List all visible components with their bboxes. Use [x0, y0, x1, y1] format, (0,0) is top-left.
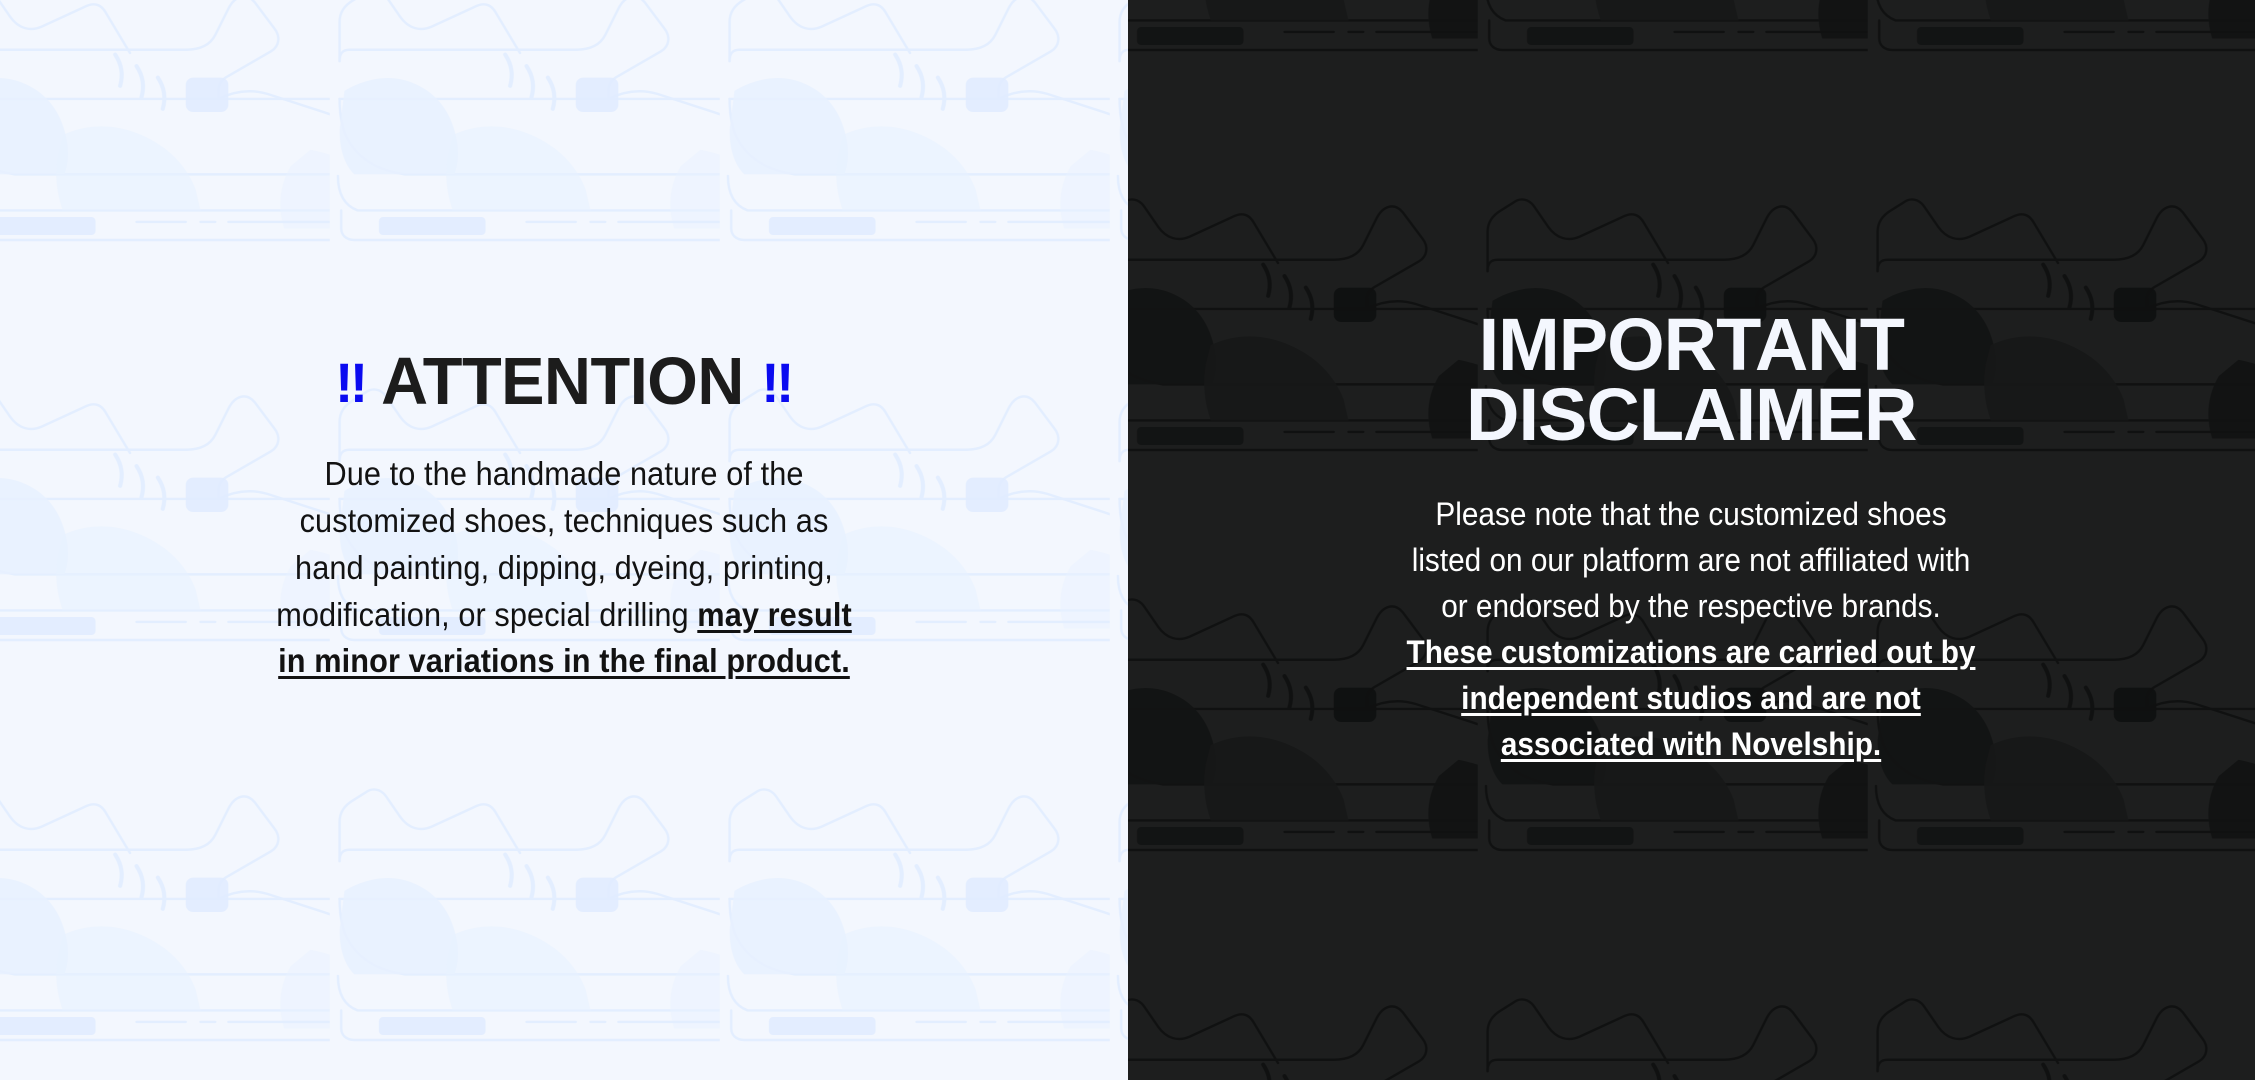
disclaimer-banner: ‼ ATTENTION ‼ Due to the handmade nature… [0, 0, 2255, 1080]
attention-heading-text: ATTENTION [381, 344, 744, 419]
disclaimer-heading-line1: IMPORTANT [1466, 310, 1916, 380]
disclaimer-panel: IMPORTANT DISCLAIMER Please note that th… [1128, 0, 2255, 1080]
attention-panel: ‼ ATTENTION ‼ Due to the handmade nature… [0, 0, 1128, 1080]
attention-heading: ‼ ATTENTION ‼ [335, 348, 792, 415]
double-exclamation-right-icon: ‼ [761, 351, 792, 414]
disclaimer-heading: IMPORTANT DISCLAIMER [1466, 310, 1916, 451]
disclaimer-body-emphasis: These customizations are carried out by … [1407, 634, 1976, 762]
disclaimer-heading-line2: DISCLAIMER [1466, 380, 1916, 450]
attention-content: ‼ ATTENTION ‼ Due to the handmade nature… [0, 0, 1128, 685]
disclaimer-body-normal: Please note that the customized shoes li… [1412, 496, 1971, 624]
double-exclamation-left-icon: ‼ [335, 351, 366, 414]
disclaimer-body: Please note that the customized shoes li… [1403, 491, 1980, 767]
attention-body: Due to the handmade nature of the custom… [262, 451, 867, 685]
disclaimer-content: IMPORTANT DISCLAIMER Please note that th… [1128, 0, 2255, 767]
